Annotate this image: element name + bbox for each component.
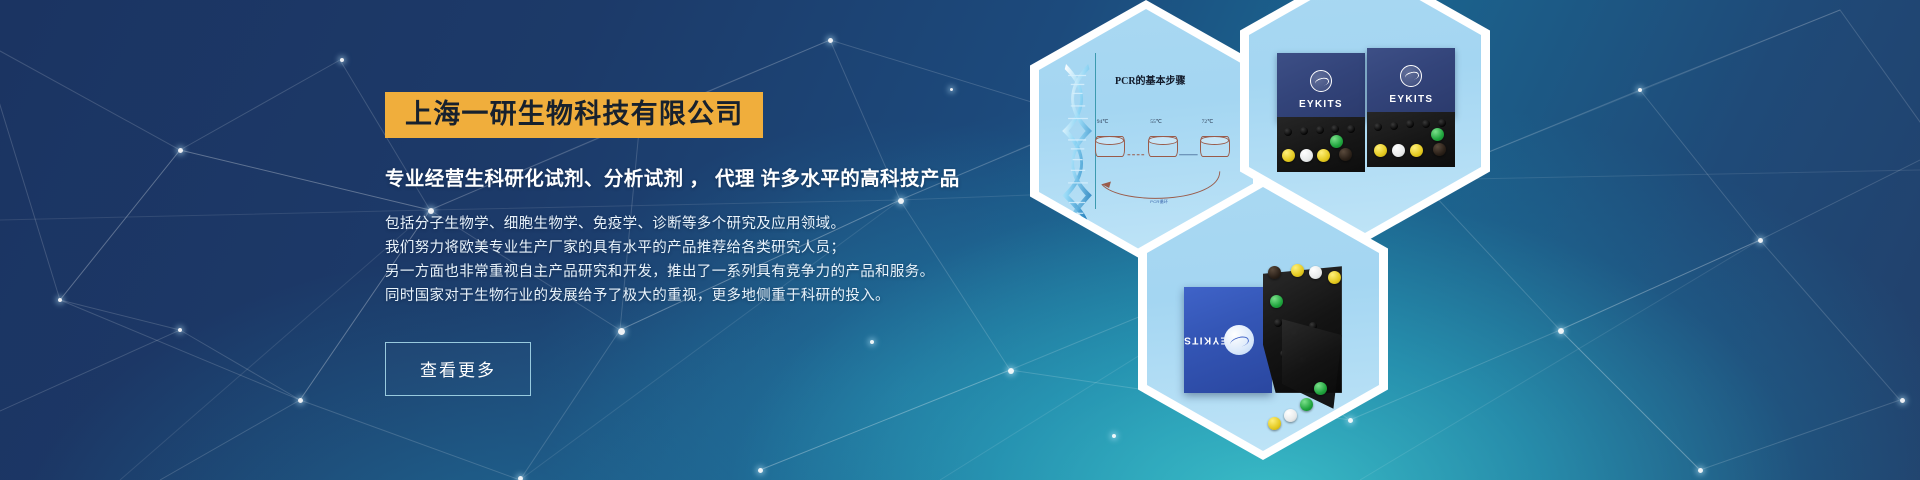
vial-cap <box>1317 149 1330 162</box>
eykits-logo-icon <box>1400 65 1422 87</box>
hero-subtitle: 专业经营生科研化试剂、分析试剂 ， 代理 许多水平的高科技产品 <box>385 162 1005 191</box>
view-more-button[interactable]: 查看更多 <box>385 342 531 396</box>
eykits-logo-icon <box>1224 325 1254 355</box>
mesh-node <box>1758 238 1763 243</box>
mesh-node <box>950 88 953 91</box>
mesh-node <box>1698 468 1703 473</box>
open-kit-photo: EYKITS <box>1147 187 1379 451</box>
eykits-logo-icon <box>1310 70 1332 92</box>
description-line: 另一方面也非常重视自主产品研究和开发，推出了一系列具有竞争力的产品和服务。 <box>385 260 1005 284</box>
vial-cap <box>1268 417 1281 430</box>
hexagon-image-cluster: PCR的基本步骤 94℃ 55℃ 72℃ PCR循环 <box>1030 0 1550 480</box>
vial-cap <box>1282 149 1295 162</box>
kit-lid: EYKITS <box>1184 287 1272 393</box>
mesh-node <box>828 38 833 43</box>
vial-cap <box>1291 264 1304 277</box>
foam-tray <box>1277 117 1365 172</box>
company-title-badge: 上海一研生物科技有限公司 <box>385 92 763 138</box>
vial-cap <box>1268 266 1281 279</box>
vial-cap <box>1433 143 1446 156</box>
mesh-node <box>1900 398 1905 403</box>
vial-cap <box>1374 144 1387 157</box>
mesh-node <box>178 328 182 332</box>
vial-cap <box>1330 135 1343 148</box>
kit-box: EYKITS <box>1277 53 1365 122</box>
vial-cap <box>1300 149 1313 162</box>
vial-cap <box>1339 148 1352 161</box>
vial-cap <box>1284 409 1297 422</box>
hero-banner: 上海一研生物科技有限公司 专业经营生科研化试剂、分析试剂 ， 代理 许多水平的高… <box>0 0 1920 480</box>
vial-cap <box>1410 144 1423 157</box>
mesh-node <box>178 148 183 153</box>
hexagon-kit-inner: EYKITS <box>1147 187 1379 451</box>
brand-label: EYKITS <box>1299 99 1343 110</box>
hero-description: 包括分子生物学、细胞生物学、免疫学、诊断等多个研究及应用领域。 我们努力将欧美专… <box>385 212 1005 308</box>
hero-copy-column: 上海一研生物科技有限公司 专业经营生科研化试剂、分析试剂 ， 代理 许多水平的高… <box>385 92 1005 396</box>
mesh-node <box>58 298 62 302</box>
mesh-node <box>1008 368 1014 374</box>
mesh-node <box>1638 88 1642 92</box>
description-line: 同时国家对于生物行业的发展给予了极大的重视，更多地侧重于科研的投入。 <box>385 284 1005 308</box>
vial-cap <box>1431 128 1444 141</box>
vial-cap <box>1300 398 1313 411</box>
mesh-node <box>1558 328 1564 334</box>
description-line: 包括分子生物学、细胞生物学、免疫学、诊断等多个研究及应用领域。 <box>385 212 1005 236</box>
mesh-node <box>340 58 344 62</box>
mesh-node <box>298 398 303 403</box>
mesh-node <box>518 476 523 480</box>
brand-label: EYKITS <box>1389 94 1433 105</box>
vial-cap <box>1392 144 1405 157</box>
pcr-cycle-label: PCR循环 <box>1150 199 1168 205</box>
mesh-node <box>758 468 763 473</box>
description-line: 我们努力将欧美专业生产厂家的具有水平的产品推荐给各类研究人员； <box>385 236 1005 260</box>
brand-label: EYKITS <box>1183 335 1228 346</box>
kit-box: EYKITS <box>1367 48 1455 117</box>
foam-tray <box>1367 112 1455 167</box>
